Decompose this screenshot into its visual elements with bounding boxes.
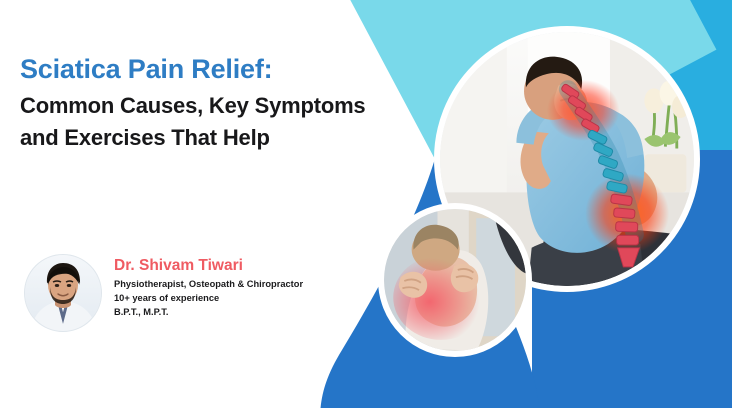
lower-back-pain-illustration-icon (384, 209, 526, 351)
author-credential-line-1: Physiotherapist, Osteopath & Chiropracto… (114, 278, 303, 292)
secondary-photo-circle (378, 203, 532, 357)
author-text-block: Dr. Shivam Tiwari Physiotherapist, Osteo… (114, 254, 303, 320)
headline-block: Sciatica Pain Relief: Common Causes, Key… (20, 52, 420, 154)
author-credential-line-2: 10+ years of experience (114, 292, 303, 306)
headline-line-3: and Exercises That Help (20, 122, 420, 154)
author-name: Dr. Shivam Tiwari (114, 256, 303, 275)
headline-line-1: Sciatica Pain Relief: (20, 52, 420, 87)
avatar (24, 254, 102, 332)
sciatica-article-banner: Sciatica Pain Relief: Common Causes, Key… (0, 0, 732, 408)
author-credential-line-3: B.P.T., M.P.T. (114, 306, 303, 320)
doctor-portrait-icon (25, 255, 101, 331)
headline-line-2: Common Causes, Key Symptoms (20, 90, 420, 122)
author-block: Dr. Shivam Tiwari Physiotherapist, Osteo… (24, 254, 303, 332)
